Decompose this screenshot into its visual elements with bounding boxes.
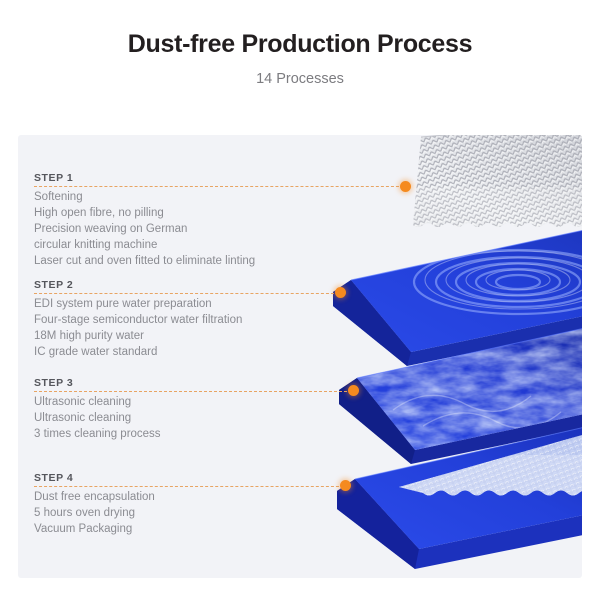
step-block-2: STEP 2 EDI system pure water preparation… — [34, 280, 364, 360]
step-line: Ultrasonic cleaning — [34, 410, 364, 426]
step-connector-line-3 — [34, 391, 352, 392]
page-title: Dust-free Production Process — [0, 30, 600, 59]
step-block-1: STEP 1 Softening High open fibre, no pil… — [34, 173, 364, 270]
step-line: circular knitting machine — [34, 237, 364, 253]
step-block-4: STEP 4 Dust free encapsulation 5 hours o… — [34, 473, 364, 537]
step-connector-line-1 — [34, 186, 404, 187]
step-line: IC grade water standard — [34, 344, 364, 360]
step-line: 5 hours oven drying — [34, 505, 364, 521]
step-node-dot-1 — [400, 181, 411, 192]
step-line: Precision weaving on German — [34, 221, 364, 237]
step-line: 3 times cleaning process — [34, 426, 364, 442]
step-connector-line-4 — [34, 486, 344, 487]
step-lines-3: Ultrasonic cleaning Ultrasonic cleaning … — [34, 394, 364, 443]
step-lines-2: EDI system pure water preparation Four-s… — [34, 296, 364, 361]
step-lines-1: Softening High open fibre, no pilling Pr… — [34, 189, 364, 270]
step-line: EDI system pure water preparation — [34, 296, 364, 312]
step-line: 18M high purity water — [34, 328, 364, 344]
process-diagram-card: STEP 1 Softening High open fibre, no pil… — [18, 135, 582, 578]
step-node-dot-3 — [348, 385, 359, 396]
step-label-3: STEP 3 — [34, 378, 364, 390]
step-block-3: STEP 3 Ultrasonic cleaning Ultrasonic cl… — [34, 378, 364, 442]
step-label-4: STEP 4 — [34, 473, 364, 485]
step-connector-line-2 — [34, 293, 339, 294]
step-line: Four-stage semiconductor water filtratio… — [34, 312, 364, 328]
header: Dust-free Production Process 14 Processe… — [0, 0, 600, 88]
step-line: Ultrasonic cleaning — [34, 394, 364, 410]
step-line: Softening — [34, 189, 364, 205]
step-line: Laser cut and oven fitted to eliminate l… — [34, 253, 364, 269]
step-label-2: STEP 2 — [34, 280, 364, 292]
step-line: Dust free encapsulation — [34, 489, 364, 505]
page-subtitle: 14 Processes — [0, 71, 600, 88]
step-line: Vacuum Packaging — [34, 521, 364, 537]
step-lines-4: Dust free encapsulation 5 hours oven dry… — [34, 489, 364, 538]
step-node-dot-4 — [340, 480, 351, 491]
step-label-1: STEP 1 — [34, 173, 364, 185]
step-node-dot-2 — [335, 287, 346, 298]
step-line: High open fibre, no pilling — [34, 205, 364, 221]
